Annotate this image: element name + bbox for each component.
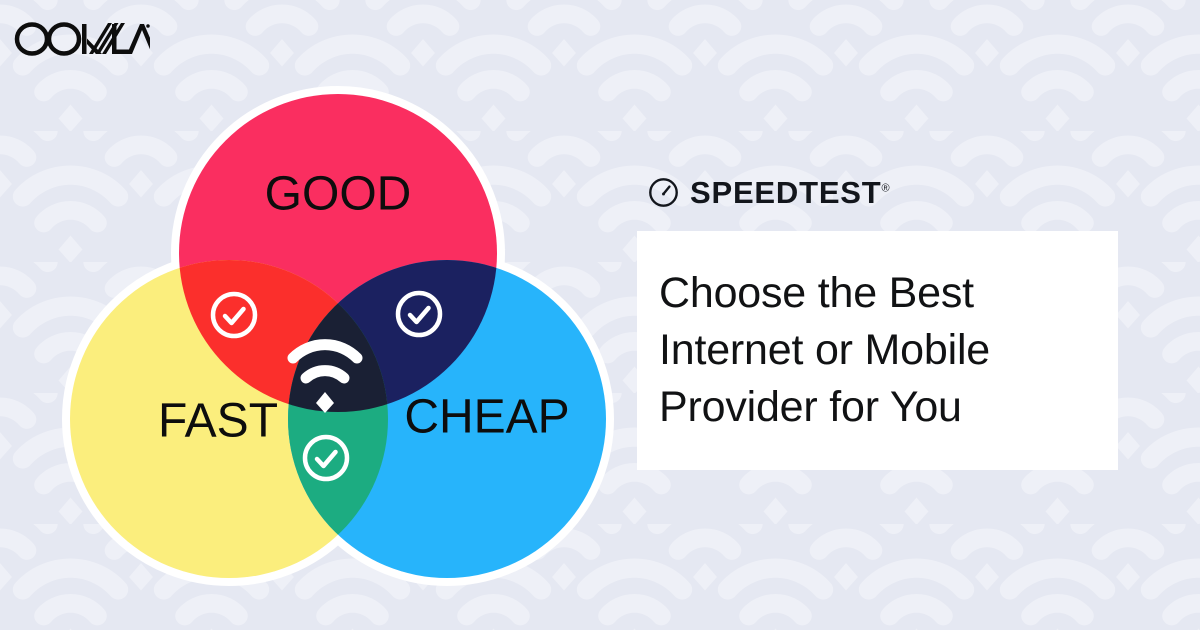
headline-panel: Choose the Best Internet or Mobile Provi… bbox=[637, 231, 1118, 470]
venn-label-cheap: CHEAP bbox=[404, 391, 569, 444]
ookla-logo bbox=[14, 16, 150, 60]
page-title: Choose the Best Internet or Mobile Provi… bbox=[659, 265, 1118, 436]
speedtest-gauge-icon bbox=[648, 177, 679, 208]
venn-diagram: GOOD FAST CHEAP bbox=[52, 62, 624, 622]
speedtest-logo-lockup: SPEEDTEST® bbox=[637, 168, 1119, 216]
speedtest-trademark-symbol: ® bbox=[882, 182, 890, 194]
venn-label-fast: FAST bbox=[158, 395, 278, 448]
speedtest-wordmark: SPEEDTEST® bbox=[690, 177, 890, 208]
speedtest-wordmark-text: SPEEDTEST bbox=[690, 175, 882, 210]
right-content-column: SPEEDTEST® Choose the Best Internet or M… bbox=[637, 168, 1119, 470]
venn-label-good: GOOD bbox=[265, 168, 412, 221]
